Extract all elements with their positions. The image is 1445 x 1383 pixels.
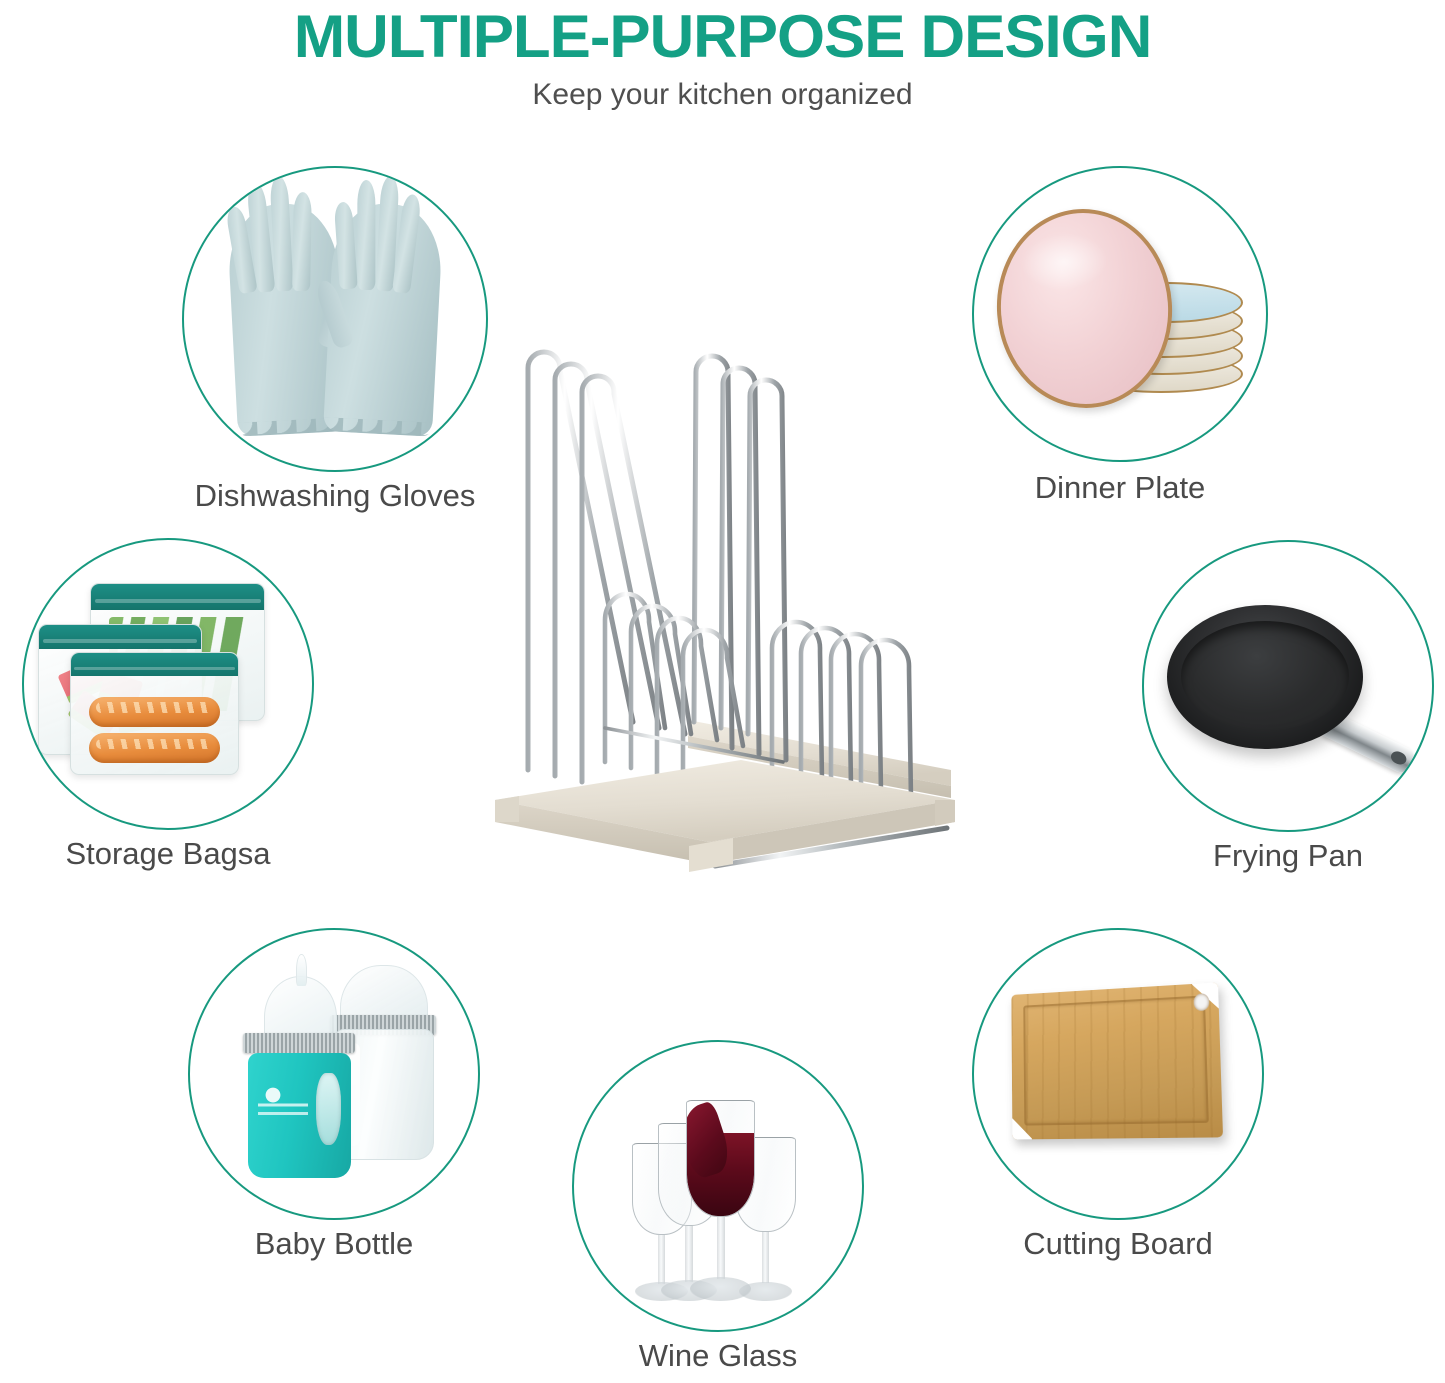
frying-pan-circle [1142, 540, 1434, 832]
dishwashing-gloves-circle [182, 166, 488, 472]
finger [293, 192, 313, 291]
baby-bottle-circle [188, 928, 480, 1220]
callout-label-frying-pan: Frying Pan [1213, 838, 1363, 874]
callout-label-dinner-plate: Dinner Plate [1035, 470, 1206, 506]
pan-body [1167, 605, 1363, 749]
bottle-collar [243, 1033, 355, 1053]
callout-label-baby-bottle: Baby Bottle [255, 1226, 414, 1262]
bag-zipper-icon [39, 625, 200, 650]
dinner-plate-circle [972, 166, 1268, 462]
glass-stem [762, 1232, 769, 1283]
wine-glass-front-filled [686, 1100, 755, 1302]
bottle-sleeve [248, 1053, 352, 1178]
infographic-canvas: MULTIPLE-PURPOSE DESIGN Keep your kitche… [0, 0, 1445, 1383]
finger [357, 180, 375, 290]
storage-bag-bread [70, 652, 239, 775]
glass-stem [717, 1217, 725, 1279]
product-image-wire-rack [483, 330, 963, 940]
teal-baby-bottle-icon [248, 976, 352, 1178]
juice-groove [1023, 995, 1209, 1126]
cut-corner [1012, 1117, 1032, 1139]
dishwashing-gloves-image [184, 168, 486, 470]
callout-label-storage-bags: Storage Bagsa [65, 836, 270, 872]
sleeve-window [316, 1073, 341, 1145]
cutting-board-circle [972, 928, 1264, 1220]
wine-glass-circle [572, 1040, 864, 1332]
callout-baby-bottle: Baby Bottle [188, 928, 480, 1268]
callout-dishwashing-gloves: Dishwashing Gloves [182, 166, 488, 518]
baby-bottle-image [190, 930, 478, 1218]
cutting-board-image [974, 930, 1262, 1218]
callout-label-dishwashing-gloves: Dishwashing Gloves [195, 478, 476, 514]
bag-zipper-icon [91, 584, 264, 610]
callout-storage-bags: Storage Bagsa [22, 538, 314, 878]
callout-label-wine-glass: Wine Glass [639, 1338, 797, 1374]
storage-bags-image [24, 540, 312, 828]
callout-frying-pan: Frying Pan [1142, 540, 1434, 880]
callout-dinner-plate: Dinner Plate [972, 166, 1268, 516]
callout-wine-glass: Wine Glass [572, 1040, 864, 1380]
bread-loaf [89, 733, 219, 763]
callout-label-cutting-board: Cutting Board [1023, 1226, 1213, 1262]
bread-loaf [89, 697, 219, 727]
page-title: MULTIPLE-PURPOSE DESIGN [0, 2, 1445, 71]
bag-zipper-icon [71, 653, 238, 676]
dinner-plate-image [974, 168, 1266, 460]
glass-bowl [686, 1100, 755, 1217]
wine-glass-image [574, 1042, 862, 1330]
bamboo-board [1011, 982, 1223, 1139]
page-subtitle: Keep your kitchen organized [0, 78, 1445, 112]
storage-bags-circle [22, 538, 314, 830]
finger [334, 202, 359, 290]
hanging-hole-icon [1193, 993, 1209, 1011]
frying-pan-image [1144, 542, 1432, 830]
glove-right-icon [323, 202, 444, 437]
callout-cutting-board: Cutting Board [972, 928, 1264, 1268]
glass-foot [690, 1277, 751, 1301]
brand-logo [258, 1080, 308, 1122]
